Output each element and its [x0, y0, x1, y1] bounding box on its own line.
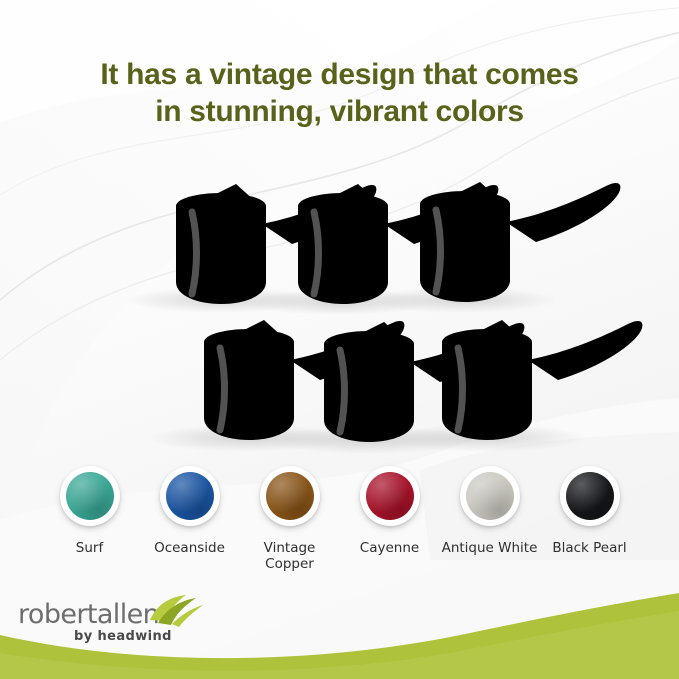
promo-image: It has a vintage design that comes in st… — [0, 0, 679, 679]
swatch-disc-surf — [60, 466, 120, 526]
color-swatch-row: Surf Oceanside Vintage Copper Cayenne An — [0, 466, 679, 586]
swatch-disc-cayenne — [360, 466, 420, 526]
swatch-oceanside[interactable]: Oceanside — [140, 466, 240, 556]
swatch-color-cayenne — [366, 472, 414, 520]
leaf-icon — [146, 594, 204, 628]
watering-can-black-pearl — [434, 297, 643, 440]
swatch-label-oceanside: Oceanside — [154, 540, 225, 556]
swatch-surf[interactable]: Surf — [40, 466, 140, 556]
brand-name: robertallen — [18, 600, 159, 630]
page-title: It has a vintage design that comes in st… — [0, 56, 679, 130]
headline-line-1: It has a vintage design that comes — [100, 58, 578, 91]
swatch-label-cayenne: Cayenne — [360, 540, 419, 556]
swatch-cayenne[interactable]: Cayenne — [340, 466, 440, 556]
swatch-color-antique-white — [466, 472, 514, 520]
watering-can-cayenne — [412, 159, 621, 302]
swatch-label-black-pearl: Black Pearl — [552, 540, 626, 556]
swatch-color-black-pearl — [566, 472, 614, 520]
swatch-vintage-copper[interactable]: Vintage Copper — [240, 466, 340, 572]
swatch-color-oceanside — [166, 472, 214, 520]
swatch-color-surf — [66, 472, 114, 520]
swatch-label-vintage-copper: Vintage Copper — [240, 540, 340, 572]
brand-tagline: by headwind — [74, 629, 172, 644]
swatch-antique-white[interactable]: Antique White — [440, 466, 540, 556]
swatch-disc-oceanside — [160, 466, 220, 526]
swatch-label-surf: Surf — [76, 540, 103, 556]
headline-line-2: in stunning, vibrant colors — [40, 93, 639, 130]
swatch-disc-antique-white — [460, 466, 520, 526]
swatch-color-vintage-copper — [266, 472, 314, 520]
swatch-black-pearl[interactable]: Black Pearl — [540, 466, 640, 556]
swatch-label-antique-white: Antique White — [442, 540, 538, 556]
brand-logo: robertallen by headwind — [16, 598, 216, 654]
swatch-disc-black-pearl — [560, 466, 620, 526]
swatch-disc-vintage-copper — [260, 466, 320, 526]
product-photo: [data-name="watering-can-antique-white"]… — [0, 150, 679, 470]
